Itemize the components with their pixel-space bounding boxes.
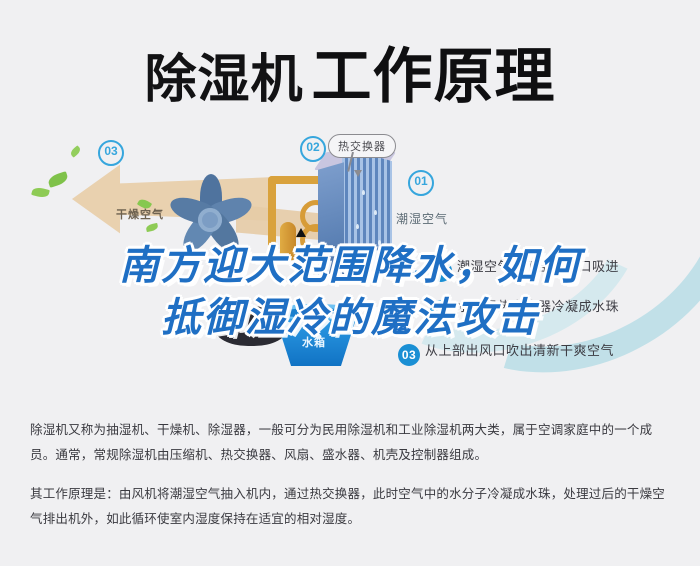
fan-hub-icon bbox=[198, 208, 222, 232]
dry-air-label: 干燥空气 bbox=[116, 206, 164, 222]
leaf-icon bbox=[31, 186, 50, 199]
badge-03-dry-air: 03 bbox=[98, 140, 124, 166]
body-copy: 除湿机又称为抽湿机、干燥机、除湿器，一般可分为民用除湿机和工业除湿机两大类，属于… bbox=[30, 418, 672, 546]
heat-exchanger-callout: 热交换器 bbox=[328, 134, 396, 158]
flow-arrow-up-icon bbox=[296, 228, 306, 237]
infographic-page: 除湿机工作原理 干燥空气 bbox=[0, 0, 700, 566]
page-title-part1: 除湿机 bbox=[144, 51, 303, 109]
page-title-part2: 工作原理 bbox=[312, 43, 556, 110]
callout-tip-icon bbox=[354, 170, 362, 177]
leaf-icon bbox=[47, 171, 69, 188]
badge-02-heat-exchanger: 02 bbox=[300, 136, 326, 162]
body-paragraph-2: 其工作原理是：由风机将潮湿空气抽入机内，通过热交换器，此时空气中的水分子冷凝成水… bbox=[30, 482, 672, 532]
step-text-03: 从上部出风口吹出清新干爽空气 bbox=[425, 343, 614, 358]
leaf-icon bbox=[145, 223, 158, 232]
badge-01-moist-air: 01 bbox=[408, 170, 434, 196]
overlay-headline: 南方迎大范围降水，如何 抵御湿冷的魔法攻击 bbox=[0, 240, 700, 344]
leaf-icon bbox=[69, 145, 82, 157]
overlay-headline-line2: 抵御湿冷的魔法攻击 bbox=[0, 292, 700, 344]
overlay-headline-line1: 南方迎大范围降水，如何 bbox=[0, 240, 700, 292]
moist-air-label: 潮湿空气 bbox=[396, 210, 448, 227]
body-paragraph-1: 除湿机又称为抽湿机、干燥机、除湿器，一般可分为民用除湿机和工业除湿机两大类，属于… bbox=[30, 418, 672, 468]
page-title: 除湿机工作原理 bbox=[0, 28, 700, 115]
step-badge-03: 03 bbox=[398, 344, 420, 366]
